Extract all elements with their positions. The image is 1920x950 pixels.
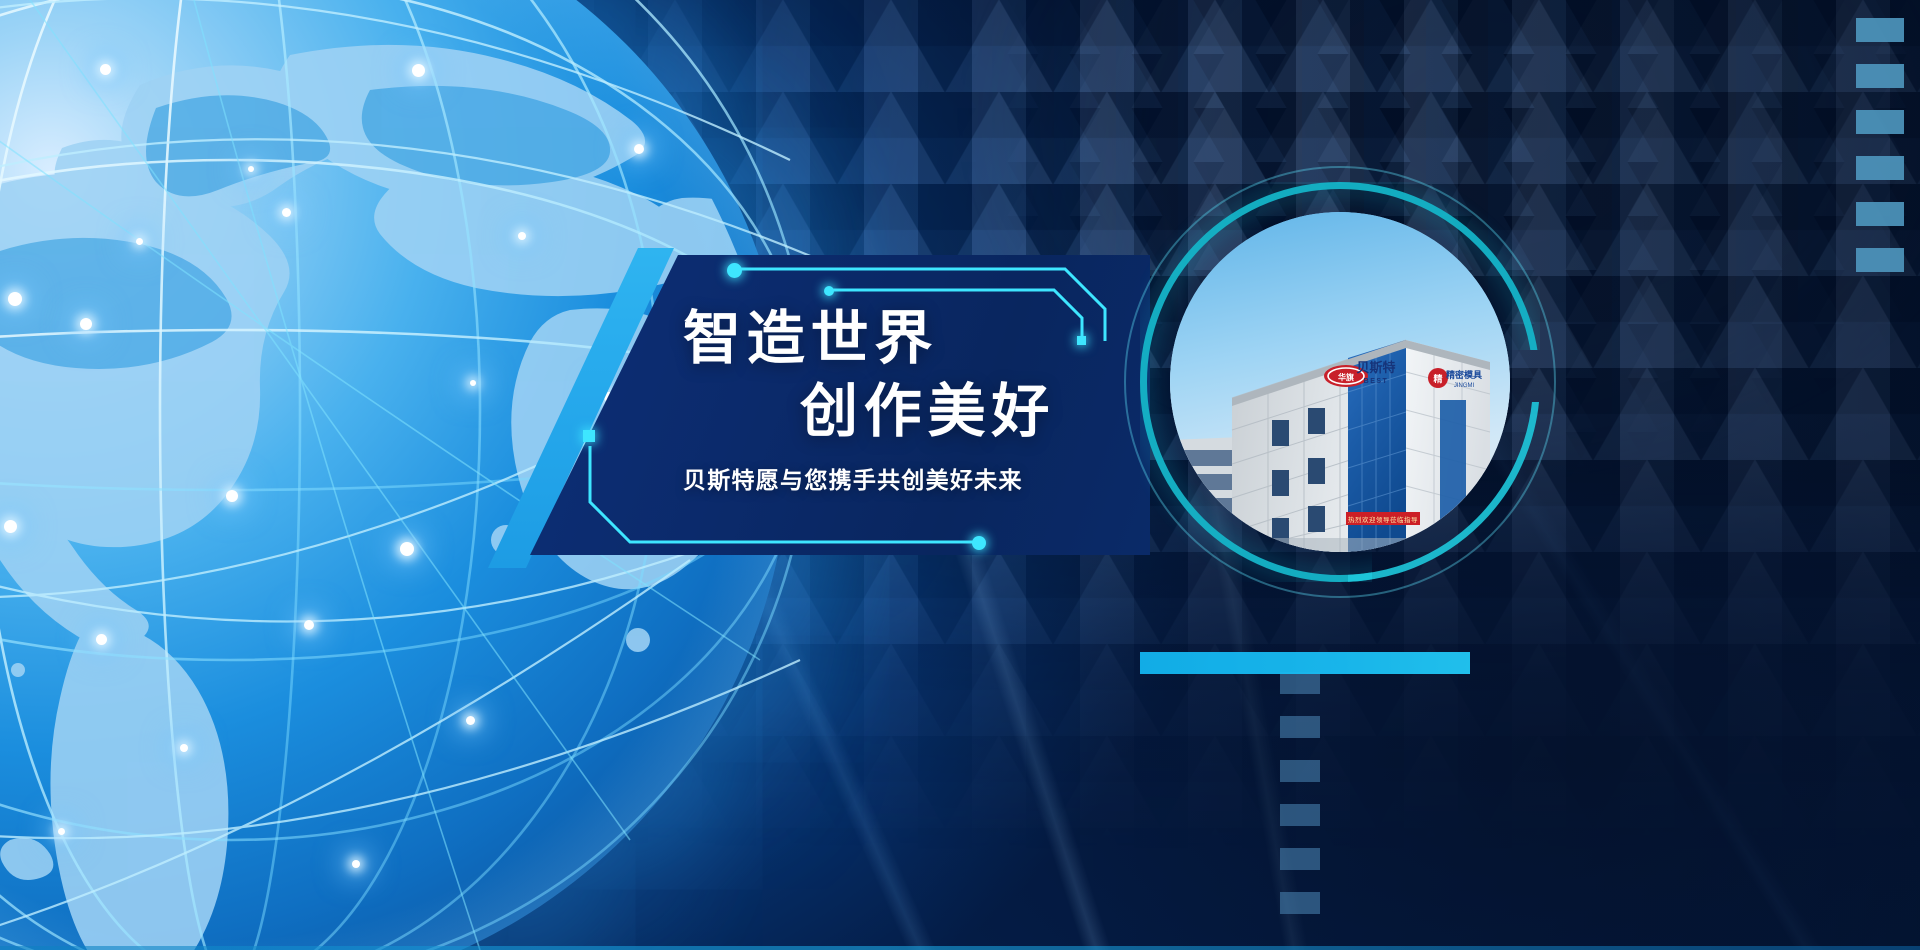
hero-banner: 智造世界 创作美好 贝斯特愿与您携手共创美好未来 <box>0 0 1920 950</box>
cyan-accent-bar <box>1140 652 1470 674</box>
circuit-node-dot-3 <box>972 536 986 550</box>
svg-text:华旗: 华旗 <box>1338 372 1354 382</box>
svg-text:精密模具: 精密模具 <box>1446 369 1482 380</box>
svg-text:JINGMI: JINGMI <box>1454 383 1475 389</box>
circuit-node-dot-2 <box>824 286 834 296</box>
headline-line-1: 智造世界 <box>683 310 938 368</box>
circuit-node-dot-1 <box>727 263 742 278</box>
building-sign-secondary: 精 精密模具 JINGMI <box>1428 368 1482 389</box>
svg-text:精: 精 <box>1433 373 1442 384</box>
circuit-end-square-1 <box>1077 336 1086 345</box>
svg-text:BEST: BEST <box>1364 378 1389 385</box>
svg-text:贝斯特: 贝斯特 <box>1356 360 1395 375</box>
decor-blocks-bottom-center <box>1280 672 1320 936</box>
decor-blocks-top-right <box>1856 18 1904 294</box>
company-building-photo-frame: 华旗 贝斯特 BEST 精 精密模具 JINGMI 热烈欢迎领导莅临指导 <box>1140 182 1540 582</box>
bottom-edge-line <box>0 946 1920 950</box>
company-building-photo: 华旗 贝斯特 BEST 精 精密模具 JINGMI 热烈欢迎领导莅临指导 <box>1170 212 1510 552</box>
svg-text:热烈欢迎领导莅临指导: 热烈欢迎领导莅临指导 <box>1348 515 1418 524</box>
banner-subtitle: 贝斯特愿与您携手共创美好未来 <box>683 461 1023 495</box>
circuit-end-square-2 <box>583 430 595 442</box>
headline-line-2: 创作美好 <box>800 383 1055 441</box>
